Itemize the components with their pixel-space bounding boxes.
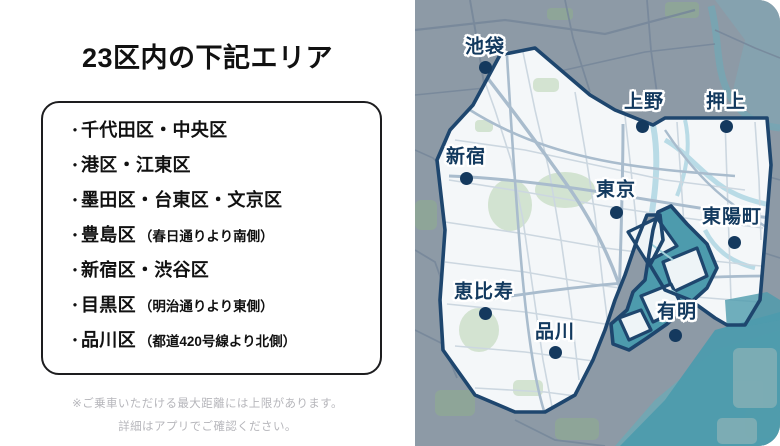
bullet-icon: ・	[67, 299, 81, 315]
area-note: （春日通りより南側）	[139, 225, 274, 245]
map-pin-oshiage[interactable]	[720, 120, 733, 133]
list-item: ・ 目黒区 （明治通りより東側）	[67, 291, 370, 326]
bullet-icon: ・	[67, 159, 81, 175]
bullet-icon: ・	[67, 229, 81, 245]
footnote-line-2: 詳細はアプリでご確認ください。	[0, 418, 415, 434]
footnote-line-1: ※ご乗車いただける最大距離には上限があります。	[0, 395, 415, 411]
area-name: 品川区	[81, 326, 136, 352]
area-name: 目黒区	[81, 291, 136, 317]
bullet-icon: ・	[67, 194, 81, 210]
bullet-icon: ・	[67, 334, 81, 350]
map-pin-shinagawa[interactable]	[549, 346, 562, 359]
service-area-panel: 23区内の下記エリア ・ 千代田区・中央区 ・ 港区・江東区 ・ 墨田区・台東区…	[0, 0, 415, 446]
map-pin-shinjuku[interactable]	[460, 172, 473, 185]
area-note: （都道420号線より北側）	[139, 330, 296, 350]
map-label-shinjuku: 新宿	[446, 142, 486, 169]
map-pin-ariake[interactable]	[669, 329, 682, 342]
area-info-screenshot: 23区内の下記エリア ・ 千代田区・中央区 ・ 港区・江東区 ・ 墨田区・台東区…	[0, 0, 780, 446]
area-name: 港区・江東区	[81, 151, 191, 177]
area-note: （明治通りより東側）	[139, 295, 274, 315]
list-item: ・ 墨田区・台東区・文京区	[67, 186, 370, 221]
map-label-ikebukuro: 池袋	[465, 32, 505, 59]
area-list: ・ 千代田区・中央区 ・ 港区・江東区 ・ 墨田区・台東区・文京区 ・ 豊島区	[67, 116, 370, 361]
area-name: 新宿区・渋谷区	[81, 256, 209, 282]
page-title: 23区内の下記エリア	[0, 36, 415, 75]
map-pin-ikebukuro[interactable]	[479, 61, 492, 74]
bullet-icon: ・	[67, 124, 81, 140]
list-item: ・ 豊島区 （春日通りより南側）	[67, 221, 370, 256]
map-label-ueno: 上野	[624, 87, 664, 114]
area-list-card: ・ 千代田区・中央区 ・ 港区・江東区 ・ 墨田区・台東区・文京区 ・ 豊島区	[41, 101, 382, 375]
area-name: 千代田区・中央区	[81, 116, 227, 142]
bullet-icon: ・	[67, 264, 81, 280]
area-name: 墨田区・台東区・文京区	[81, 186, 282, 212]
map-label-tokyo: 東京	[596, 175, 636, 202]
list-item: ・ 港区・江東区	[67, 151, 370, 186]
list-item: ・ 新宿区・渋谷区	[67, 256, 370, 291]
map-label-ebisu: 恵比寿	[454, 277, 514, 304]
map-label-oshiage: 押上	[706, 87, 746, 114]
service-area-map[interactable]: 池袋 上野 押上 新宿 東京 東陽町 恵比寿 品川 有明	[415, 0, 780, 446]
map-label-shinagawa: 品川	[535, 317, 575, 344]
list-item: ・ 千代田区・中央区	[67, 116, 370, 151]
area-name: 豊島区	[81, 221, 136, 247]
list-item: ・ 品川区 （都道420号線より北側）	[67, 326, 370, 361]
map-pin-tokyo[interactable]	[610, 206, 623, 219]
map-label-ariake: 有明	[657, 297, 697, 324]
map-label-toyocho: 東陽町	[702, 202, 762, 229]
map-pin-toyocho[interactable]	[728, 236, 741, 249]
map-pin-ueno[interactable]	[636, 120, 649, 133]
map-pin-ebisu[interactable]	[479, 307, 492, 320]
